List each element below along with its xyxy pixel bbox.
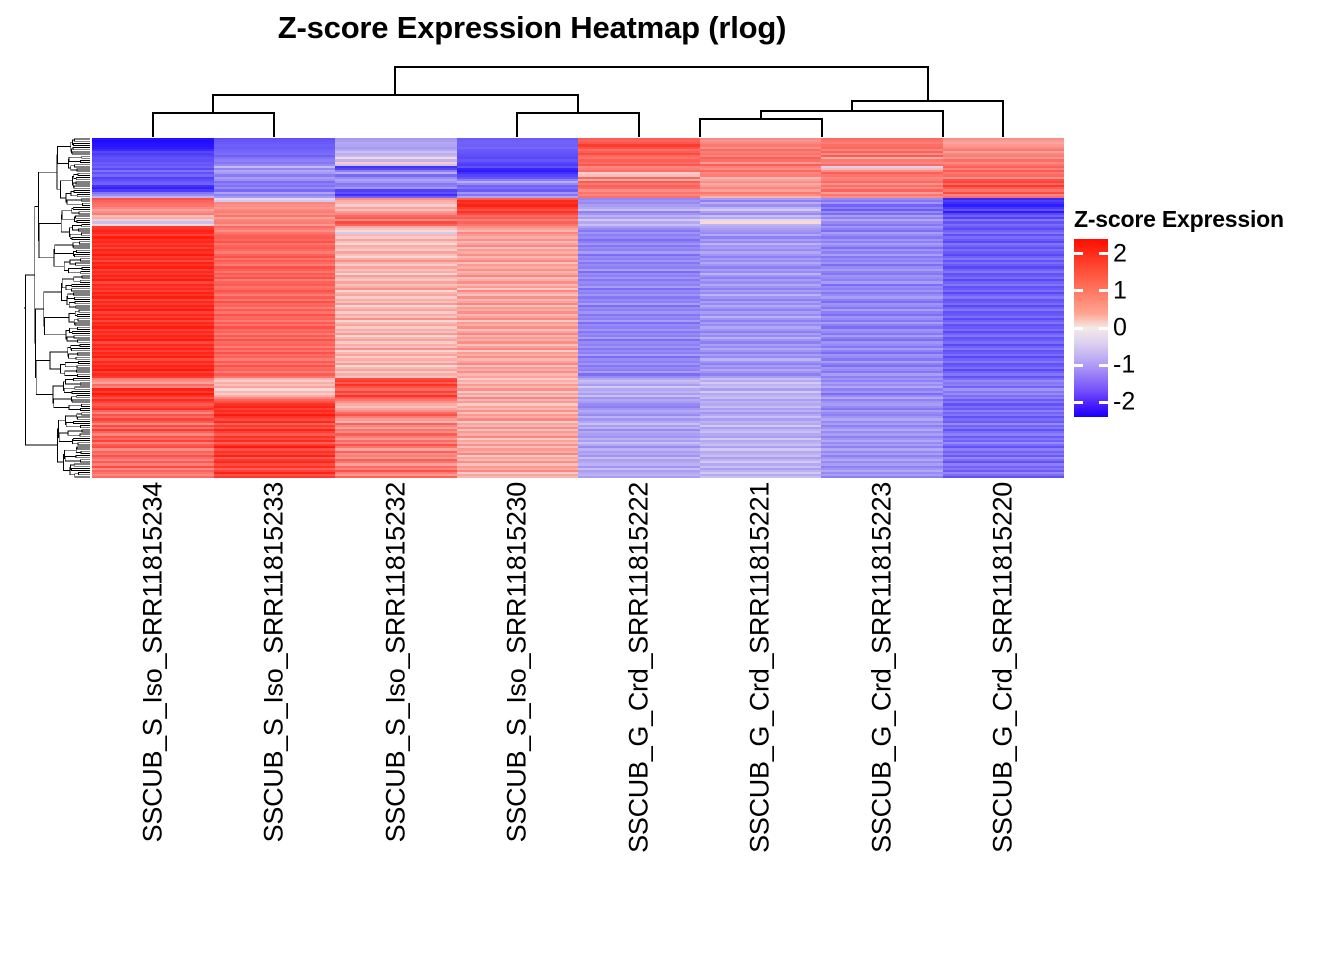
page-title: Z-score Expression Heatmap (rlog): [0, 10, 1064, 46]
legend-title: Z-score Expression: [1074, 206, 1284, 233]
column-label: SSCUB_G_Crd_SRR11815222: [623, 482, 654, 853]
heatmap-cell: [335, 476, 457, 478]
colorbar-tick: [1099, 364, 1108, 367]
colorbar-tick: [1074, 252, 1083, 255]
colorbar-tick-label: -2: [1113, 390, 1135, 415]
heatmap-row: [92, 476, 1064, 478]
column-label-slot: SSCUB_S_Iso_SRR11815232: [335, 482, 457, 952]
heatmap-cell: [943, 476, 1065, 478]
colorbar-tick-label: -1: [1113, 353, 1135, 378]
colorbar-tick: [1074, 289, 1083, 292]
colorbar-tick: [1074, 401, 1083, 404]
colorbar-tick-labels: 210-1-2: [1113, 239, 1159, 417]
column-label: SSCUB_G_Crd_SRR11815221: [745, 482, 776, 853]
colorbar-tick: [1099, 289, 1108, 292]
colorbar-tick: [1099, 401, 1108, 404]
column-label-slot: SSCUB_G_Crd_SRR11815220: [943, 482, 1065, 952]
column-label-slot: SSCUB_S_Iso_SRR11815230: [457, 482, 579, 952]
column-labels: SSCUB_S_Iso_SRR11815234SSCUB_S_Iso_SRR11…: [92, 482, 1064, 952]
heatmap-cell: [578, 476, 700, 478]
heatmap-cell: [214, 476, 336, 478]
column-label-slot: SSCUB_G_Crd_SRR11815221: [700, 482, 822, 952]
colorbar-tick-label: 0: [1113, 316, 1127, 341]
column-label: SSCUB_G_Crd_SRR11815220: [988, 482, 1019, 853]
colorbar-tick: [1074, 364, 1083, 367]
column-label-slot: SSCUB_G_Crd_SRR11815222: [578, 482, 700, 952]
colorbar-tick-label: 2: [1113, 241, 1127, 266]
column-label: SSCUB_S_Iso_SRR11815234: [137, 482, 168, 842]
column-dendrogram: [92, 57, 1064, 137]
row-dendrogram: [24, 138, 90, 478]
colorbar-tick: [1099, 327, 1108, 330]
heatmap-figure: Z-score Expression Heatmap (rlog): [0, 0, 1344, 960]
column-label-slot: SSCUB_G_Crd_SRR11815223: [821, 482, 943, 952]
colorbar-tick: [1074, 327, 1083, 330]
column-label: SSCUB_S_Iso_SRR11815230: [502, 482, 533, 842]
heatmap-cell: [821, 476, 943, 478]
heatmap-grid: [92, 138, 1064, 478]
column-label-slot: SSCUB_S_Iso_SRR11815234: [92, 482, 214, 952]
column-label-slot: SSCUB_S_Iso_SRR11815233: [214, 482, 336, 952]
legend: Z-score Expression 210-1-2: [1074, 206, 1284, 417]
heatmap-cell: [457, 476, 579, 478]
colorbar: [1074, 239, 1108, 417]
column-label: SSCUB_S_Iso_SRR11815232: [380, 482, 411, 842]
column-label: SSCUB_G_Crd_SRR11815223: [866, 482, 897, 853]
heatmap-cell: [700, 476, 822, 478]
legend-body: 210-1-2: [1074, 239, 1284, 417]
colorbar-tick-label: 1: [1113, 278, 1127, 303]
heatmap-cell: [92, 476, 214, 478]
colorbar-tick: [1099, 252, 1108, 255]
column-label: SSCUB_S_Iso_SRR11815233: [259, 482, 290, 842]
